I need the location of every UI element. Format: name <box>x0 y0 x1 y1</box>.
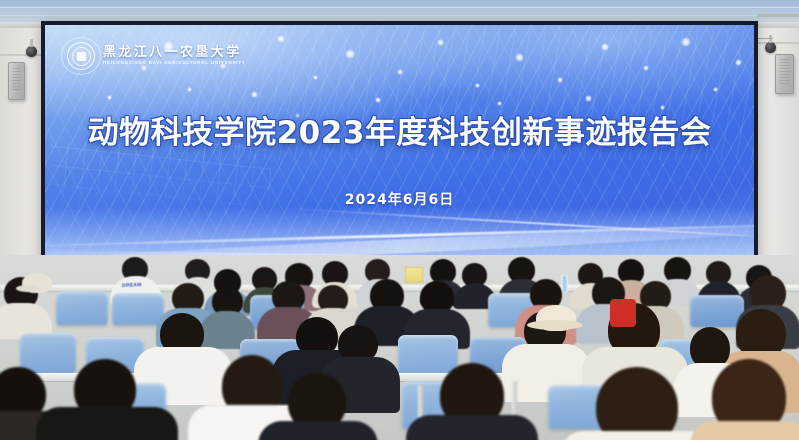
beige-bucket-hat <box>536 305 576 331</box>
university-name-en: HEILONGJIANG BAYI AGRICULTURAL UNIVERSIT… <box>103 61 246 65</box>
security-camera-right <box>765 42 776 53</box>
slide-date: 2024年6月6日 <box>45 189 754 209</box>
yellow-poster <box>405 267 423 283</box>
wall-speaker-left <box>8 62 25 100</box>
seat <box>112 293 164 325</box>
seat <box>20 333 76 373</box>
seat <box>398 335 458 377</box>
slide-surface: 黑龙江八一农垦大学 HEILONGJIANG BAYI AGRICULTURAL… <box>45 25 754 271</box>
red-jacket <box>610 299 636 327</box>
lecture-hall-photo: 黑龙江八一农垦大学 HEILONGJIANG BAYI AGRICULTURAL… <box>0 0 799 440</box>
slide-title: 动物科技学院2023年度科技创新事迹报告会 <box>45 107 754 152</box>
university-name-cn: 黑龙江八一农垦大学 <box>103 46 246 59</box>
white-baseball-cap <box>22 273 52 293</box>
water-bottle <box>561 275 568 293</box>
seat <box>56 291 108 325</box>
wall-speaker-right <box>775 54 794 94</box>
security-camera-left <box>26 46 37 57</box>
seal-outer-ring-decoration <box>61 37 101 75</box>
audience-area: DREAM <box>0 255 799 440</box>
led-presentation-screen: 黑龙江八一农垦大学 HEILONGJIANG BAYI AGRICULTURAL… <box>41 21 758 275</box>
